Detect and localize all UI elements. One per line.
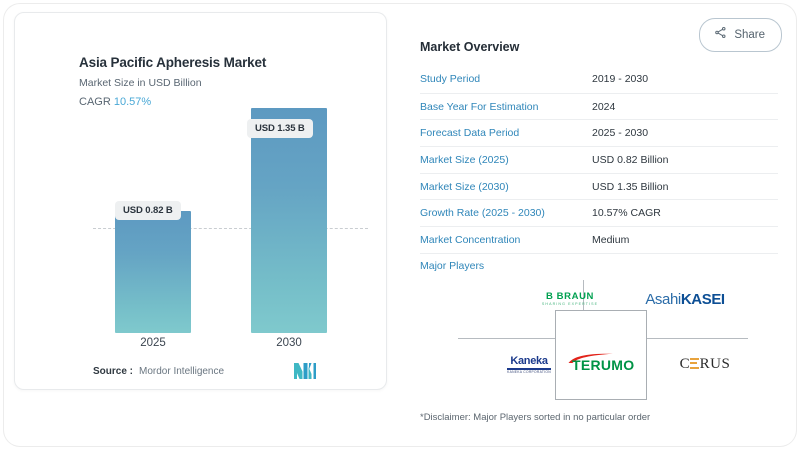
- row-key: Forecast Data Period: [420, 127, 592, 139]
- kaneka-logo-line1: Kaneka: [507, 356, 551, 367]
- source-value: Mordor Intelligence: [139, 366, 224, 377]
- row-value: USD 0.82 Billion: [592, 154, 668, 166]
- row-value: 2025 - 2030: [592, 127, 648, 139]
- major-players-label: Major Players: [420, 260, 592, 272]
- row-key: Study Period: [420, 73, 592, 85]
- bar-2030[interactable]: [251, 108, 327, 333]
- chart-card: Asia Pacific Apheresis Market Market Siz…: [14, 12, 387, 390]
- asahi-kasei-logo-part1: Asahi: [645, 291, 681, 308]
- cerus-logo: CRUS: [680, 356, 731, 373]
- b-braun-logo: B BRAUN SHARING EXPERTISE: [542, 292, 598, 307]
- cagr-value: 10.57%: [114, 96, 151, 108]
- disclaimer-text: *Disclaimer: Major Players sorted in no …: [420, 412, 650, 423]
- b-braun-logo-line1: B BRAUN: [542, 292, 598, 302]
- panel-title: Market Overview: [420, 40, 780, 54]
- major-players-row: Major Players: [420, 253, 778, 279]
- cagr-label: CAGR: [79, 96, 111, 108]
- row-value: 2019 - 2030: [592, 73, 648, 85]
- row-key: Base Year For Estimation: [420, 101, 592, 113]
- chart-subtitle: Market Size in USD Billion: [79, 77, 202, 89]
- cerus-logo-e-bars-icon: [690, 358, 699, 369]
- terumo-logo-text: TERUMO: [572, 358, 634, 372]
- table-row: Growth Rate (2025 - 2030) 10.57% CAGR: [420, 199, 778, 226]
- row-key: Growth Rate (2025 - 2030): [420, 207, 592, 219]
- table-row: Market Size (2030) USD 1.35 Billion: [420, 173, 778, 200]
- chart-cagr-annotation: CAGR 10.57%: [79, 96, 151, 108]
- cerus-logo-part2: RUS: [700, 356, 731, 372]
- table-row: Forecast Data Period 2025 - 2030: [420, 119, 778, 146]
- mordor-intelligence-logo: [294, 363, 316, 379]
- row-key: Market Size (2025): [420, 154, 592, 166]
- row-key: Market Size (2030): [420, 181, 592, 193]
- major-players-diagram: B BRAUN SHARING EXPERTISE AsahiKASEI Kan…: [420, 280, 780, 400]
- table-row: Market Size (2025) USD 0.82 Billion: [420, 146, 778, 173]
- row-value: USD 1.35 Billion: [592, 181, 668, 193]
- source-label: Source :: [93, 366, 133, 377]
- row-value: 10.57% CAGR: [592, 207, 661, 219]
- bar-2025[interactable]: [115, 211, 191, 333]
- asahi-kasei-logo: AsahiKASEI: [645, 291, 724, 308]
- player-logo-kaneka: Kaneka KANEKA CORPORATION: [488, 348, 570, 382]
- player-logo-asahi-kasei: AsahiKASEI: [620, 286, 750, 312]
- table-row: Market Concentration Medium: [420, 226, 778, 253]
- row-key: Market Concentration: [420, 234, 592, 246]
- row-value: 2024: [592, 101, 615, 113]
- chart-title: Asia Pacific Apheresis Market: [79, 55, 266, 70]
- player-logo-terumo: TERUMO: [562, 346, 652, 380]
- b-braun-logo-line2: SHARING EXPERTISE: [542, 303, 598, 307]
- market-overview-table: Study Period 2019 - 2030 Base Year For E…: [420, 66, 778, 279]
- table-row: Study Period 2019 - 2030: [420, 66, 778, 93]
- bar-chart-plot-area: USD 0.82 B USD 1.35 B 2025 2030: [30, 123, 373, 348]
- kaneka-logo-line2: KANEKA CORPORATION: [507, 371, 551, 374]
- table-row: Base Year For Estimation 2024: [420, 93, 778, 120]
- terumo-logo: TERUMO: [564, 348, 650, 378]
- bar-value-label-2025: USD 0.82 B: [115, 201, 181, 220]
- row-value: Medium: [592, 234, 629, 246]
- cerus-logo-part1: C: [680, 356, 691, 372]
- x-axis-tick-2030: 2030: [244, 337, 334, 349]
- source-row: Source : Mordor Intelligence: [93, 366, 224, 377]
- screenshot-root: Share Asia Pacific Apheresis Market Mark…: [0, 0, 800, 450]
- bar-value-label-2030: USD 1.35 B: [247, 119, 313, 138]
- x-axis-tick-2025: 2025: [108, 337, 198, 349]
- asahi-kasei-logo-part2: KASEI: [681, 291, 725, 308]
- kaneka-logo: Kaneka KANEKA CORPORATION: [507, 356, 551, 374]
- player-logo-cerus: CRUS: [660, 348, 750, 380]
- market-overview-panel: Market Overview Study Period 2019 - 2030…: [420, 40, 780, 279]
- player-logo-b-braun: B BRAUN SHARING EXPERTISE: [520, 286, 620, 312]
